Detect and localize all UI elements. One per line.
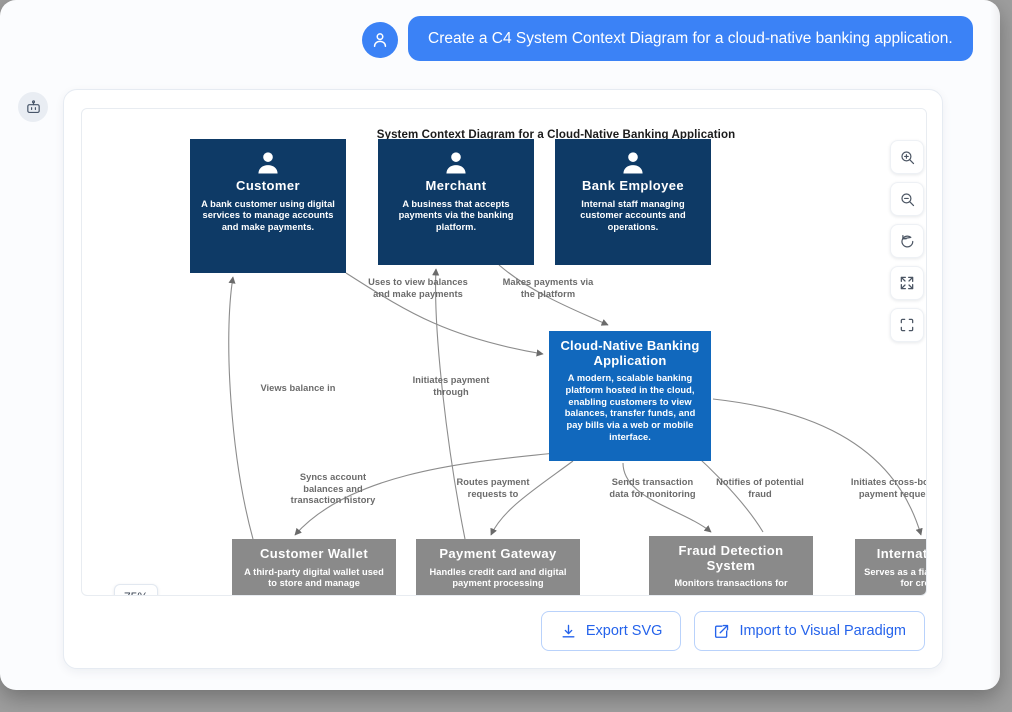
node-title: Cloud-Native Banking Application [558, 339, 702, 368]
node-title: International Bank [864, 547, 927, 562]
zoom-level-badge[interactable]: 75% [114, 584, 158, 596]
diagram-node-customer-wallet[interactable]: Customer Wallet A third-party digital wa… [232, 539, 396, 596]
diagram-viewport[interactable]: System Context Diagram for a Cloud-Nativ… [81, 108, 927, 596]
node-title: Payment Gateway [425, 547, 571, 562]
node-title: Fraud Detection System [658, 544, 804, 573]
export-svg-label: Export SVG [586, 623, 663, 639]
node-description: Monitors transactions for [658, 578, 804, 590]
node-description: Handles credit card and digital payment … [425, 567, 571, 590]
edge-label: Notifies of potential fraud [700, 477, 820, 500]
node-description: A business that accepts payments via the… [387, 199, 525, 234]
arrows-expand-icon [899, 275, 915, 291]
node-title: Customer Wallet [241, 547, 387, 562]
diagram-node-payment-gateway[interactable]: Payment Gateway Handles credit card and … [416, 539, 580, 596]
card-actions: Export SVG Import to Visual Paradigm [541, 611, 925, 651]
download-icon [560, 623, 577, 640]
node-title: Bank Employee [564, 179, 702, 194]
person-icon [253, 149, 283, 177]
person-icon [618, 149, 648, 177]
edge-label: Routes payment requests to [433, 477, 553, 500]
edge-label: Syncs account balances and transaction h… [268, 472, 398, 507]
node-description: Internal staff managing customer account… [564, 199, 702, 234]
edge-label: Makes payments via the platform [483, 277, 613, 300]
diagram-node-bank-employee[interactable]: Bank Employee Internal staff managing cu… [555, 139, 711, 265]
user-message-row: Create a C4 System Context Diagram for a… [362, 16, 973, 61]
node-description: Serves as a fiat currency partner for cr… [864, 567, 927, 590]
diagram-node-banking-app[interactable]: Cloud-Native Banking Application A moder… [549, 331, 711, 461]
zoom-in-button[interactable] [890, 140, 924, 174]
diagram-node-international-bank[interactable]: International Bank Serves as a fiat curr… [855, 539, 927, 596]
external-link-icon [713, 623, 730, 640]
node-description: A third-party digital wallet used to sto… [241, 567, 387, 590]
zoom-out-button[interactable] [890, 182, 924, 216]
import-label: Import to Visual Paradigm [739, 623, 906, 639]
diagram-node-customer[interactable]: Customer A bank customer using digital s… [190, 139, 346, 273]
rotate-ccw-icon [899, 233, 916, 250]
robot-icon [18, 92, 48, 122]
screen: Create a C4 System Context Diagram for a… [0, 0, 1012, 712]
node-title: Merchant [387, 179, 525, 194]
import-to-visual-paradigm-button[interactable]: Import to Visual Paradigm [694, 611, 925, 651]
edge-label: Sends transaction data for monitoring [590, 477, 715, 500]
node-description: A bank customer using digital services t… [199, 199, 337, 234]
reset-view-button[interactable] [890, 224, 924, 258]
zoom-toolbar [890, 140, 924, 342]
diagram-canvas[interactable]: System Context Diagram for a Cloud-Nativ… [103, 109, 927, 596]
node-description: A modern, scalable banking platform host… [558, 373, 702, 443]
edge-label: Initiates payment through [391, 375, 511, 398]
edge-label: Uses to view balances and make payments [348, 277, 488, 300]
fit-to-screen-button[interactable] [890, 308, 924, 342]
user-icon [362, 22, 398, 58]
app-surface: Create a C4 System Context Diagram for a… [0, 0, 1000, 690]
edge-label: Views balance in [238, 383, 358, 395]
node-title: Customer [199, 179, 337, 194]
magnifier-minus-icon [899, 191, 916, 208]
user-message-bubble: Create a C4 System Context Diagram for a… [408, 16, 973, 61]
edge-label: Initiates cross-border payment requests [833, 477, 927, 500]
diagram-answer-card: System Context Diagram for a Cloud-Nativ… [63, 89, 943, 669]
diagram-node-merchant[interactable]: Merchant A business that accepts payment… [378, 139, 534, 265]
diagram-node-fraud-detection[interactable]: Fraud Detection System Monitors transact… [649, 536, 813, 596]
frame-corners-icon [899, 317, 915, 333]
magnifier-plus-icon [899, 149, 916, 166]
expand-button[interactable] [890, 266, 924, 300]
person-icon [441, 149, 471, 177]
export-svg-button[interactable]: Export SVG [541, 611, 682, 651]
